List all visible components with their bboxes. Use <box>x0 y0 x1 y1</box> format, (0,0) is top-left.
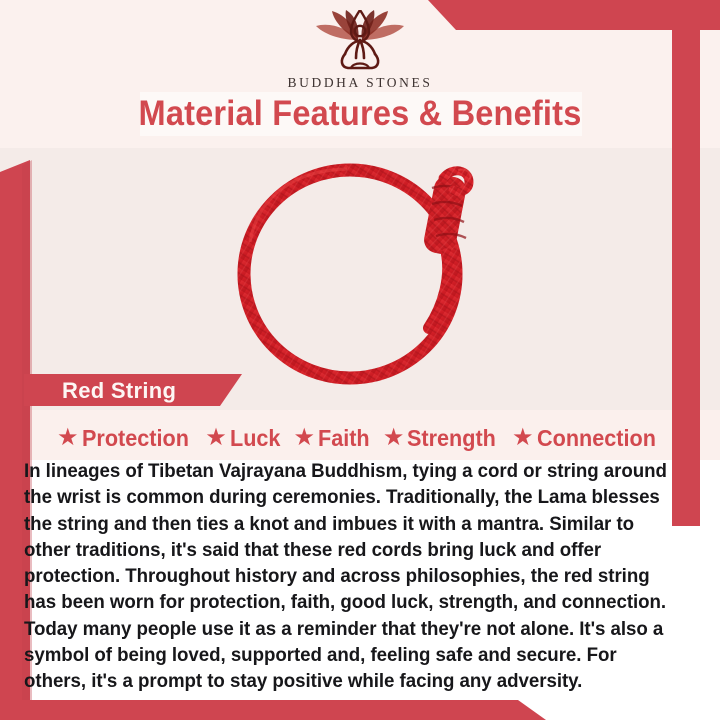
star-icon: ★ <box>293 426 315 450</box>
red-braided-string-bracelet <box>233 158 487 391</box>
star-icon: ★ <box>57 426 79 450</box>
lotus-meditation-icon <box>0 10 720 72</box>
feature-label: Protection <box>82 425 189 452</box>
feature-item-connection: ★ Connection <box>512 425 663 452</box>
feature-item-faith: ★ Faith <box>293 425 372 452</box>
feature-label: Strength <box>407 425 496 452</box>
feature-list: ★ Protection ★ Luck ★ Faith ★ Strength ★… <box>24 422 696 454</box>
star-icon: ★ <box>205 426 227 450</box>
star-icon: ★ <box>512 426 534 450</box>
feature-label: Connection <box>537 425 656 452</box>
brand-name: BUDDHA STONES <box>0 75 720 91</box>
product-name-label: Red String <box>62 378 176 404</box>
feature-item-strength: ★ Strength <box>383 425 502 452</box>
infographic-page: BUDDHA STONES Material Features & Benefi… <box>0 0 720 720</box>
star-icon: ★ <box>383 426 405 450</box>
brand-logo: BUDDHA STONES <box>0 10 720 91</box>
description-text: In lineages of Tibetan Vajrayana Buddhis… <box>24 458 672 695</box>
feature-label: Luck <box>230 425 280 452</box>
feature-label: Faith <box>318 425 370 452</box>
feature-item-protection: ★ Protection <box>57 425 195 452</box>
feature-item-luck: ★ Luck <box>205 425 283 452</box>
page-title: Material Features & Benefits <box>25 94 695 134</box>
